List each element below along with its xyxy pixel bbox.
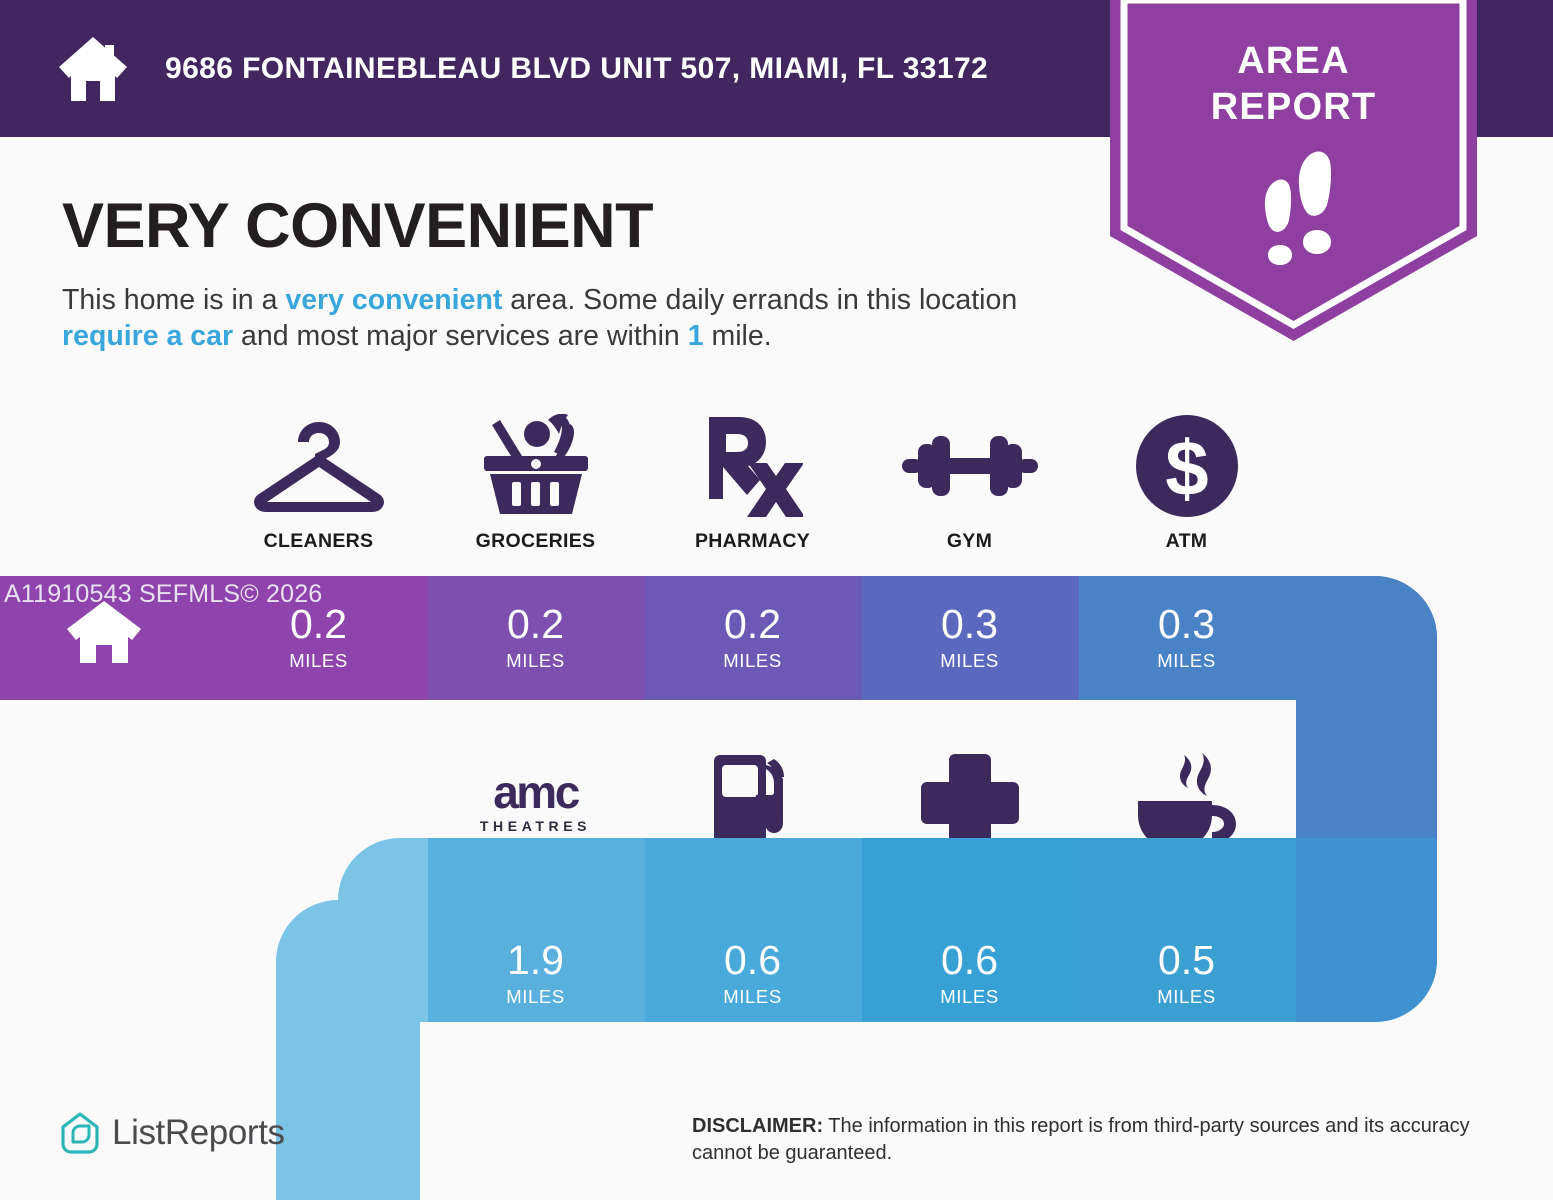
dumbbell-icon — [902, 415, 1038, 517]
area-report-badge: AREA REPORT — [1110, 0, 1477, 341]
distance-value-atm: 0.3 MILES — [1078, 576, 1295, 700]
summary-highlight-1: very convenient — [285, 284, 502, 316]
home-icon — [57, 35, 129, 103]
distance-number: 0.2 — [724, 604, 781, 645]
distance-value-gym: 0.3 MILES — [861, 576, 1078, 700]
distance-unit: MILES — [940, 650, 999, 672]
amenity-groceries: GROCERIES — [427, 415, 644, 553]
amenity-atm: $ ATM — [1078, 415, 1295, 553]
distance-number: 0.2 — [290, 604, 347, 645]
distance-unit: MILES — [723, 650, 782, 672]
listreports-logo: ListReports — [60, 1112, 285, 1154]
distance-number: 1.9 — [507, 940, 564, 981]
amenity-label: PHARMACY — [695, 530, 810, 553]
amenity-icon-row-1: CLEANERS GROCERIES — [210, 415, 1375, 553]
distance-value-pharmacy: 0.2 MILES — [644, 576, 861, 700]
distance-unit: MILES — [940, 986, 999, 1008]
distance-number: 0.3 — [1158, 604, 1215, 645]
distance-value-medical: 0.6 MILES — [861, 912, 1078, 1036]
distance-value-groceries: 0.2 MILES — [427, 576, 644, 700]
grocery-basket-icon — [478, 415, 594, 517]
summary-part-1: This home is in a — [62, 284, 285, 316]
distance-values-row-1: 0.2 MILES 0.2 MILES 0.2 MILES 0.3 MILES … — [210, 576, 1375, 700]
distance-unit: MILES — [1157, 986, 1216, 1008]
hanger-icon — [253, 415, 385, 517]
amenity-pharmacy: PHARMACY — [644, 415, 861, 553]
distance-value-coffee: 0.5 MILES — [1078, 912, 1295, 1036]
amenity-label: GROCERIES — [476, 530, 596, 553]
summary-text: This home is in a very convenient area. … — [62, 283, 1102, 355]
page-title: VERY CONVENIENT — [62, 190, 653, 262]
mls-watermark: A11910543 SEFMLS© 2026 — [4, 580, 322, 609]
amenity-gym: GYM — [861, 415, 1078, 553]
distance-number: 0.6 — [724, 940, 781, 981]
distance-value-movie-theater: 1.9 MILES — [427, 912, 644, 1036]
summary-highlight-2: require a car — [62, 320, 233, 352]
distance-unit: MILES — [506, 986, 565, 1008]
summary-part-3: and most major services are within — [233, 320, 688, 352]
amenity-label: GYM — [947, 530, 992, 553]
distance-values-row-2: 1.9 MILES 0.6 MILES 0.6 MILES 0.5 MILES — [427, 912, 1377, 1036]
summary-highlight-3: 1 — [688, 320, 704, 352]
svg-text:$: $ — [1165, 424, 1208, 512]
summary-part-4: mile. — [704, 320, 772, 352]
amenity-cleaners: CLEANERS — [210, 415, 427, 553]
badge-shape — [1110, 0, 1477, 341]
distance-unit: MILES — [1157, 650, 1216, 672]
distance-unit: MILES — [723, 986, 782, 1008]
distance-number: 0.6 — [941, 940, 998, 981]
property-address: 9686 FONTAINEBLEAU BLVD UNIT 507, MIAMI,… — [165, 52, 988, 86]
amenity-label: ATM — [1166, 530, 1208, 553]
amenity-label: CLEANERS — [264, 530, 374, 553]
distance-unit: MILES — [506, 650, 565, 672]
dollar-circle-icon: $ — [1136, 415, 1238, 517]
summary-part-2: area. Some daily errands in this locatio… — [502, 284, 1017, 316]
distance-value-gas: 0.6 MILES — [644, 912, 861, 1036]
home-marker-icon — [67, 601, 141, 663]
area-report-page: 9686 FONTAINEBLEAU BLVD UNIT 507, MIAMI,… — [0, 0, 1553, 1200]
listreports-wordmark: ListReports — [112, 1113, 285, 1153]
rx-icon — [703, 415, 803, 517]
listreports-house-tag-icon — [60, 1112, 100, 1154]
distance-unit: MILES — [289, 650, 348, 672]
distance-number: 0.5 — [1158, 940, 1215, 981]
distance-number: 0.2 — [507, 604, 564, 645]
distance-number: 0.3 — [941, 604, 998, 645]
